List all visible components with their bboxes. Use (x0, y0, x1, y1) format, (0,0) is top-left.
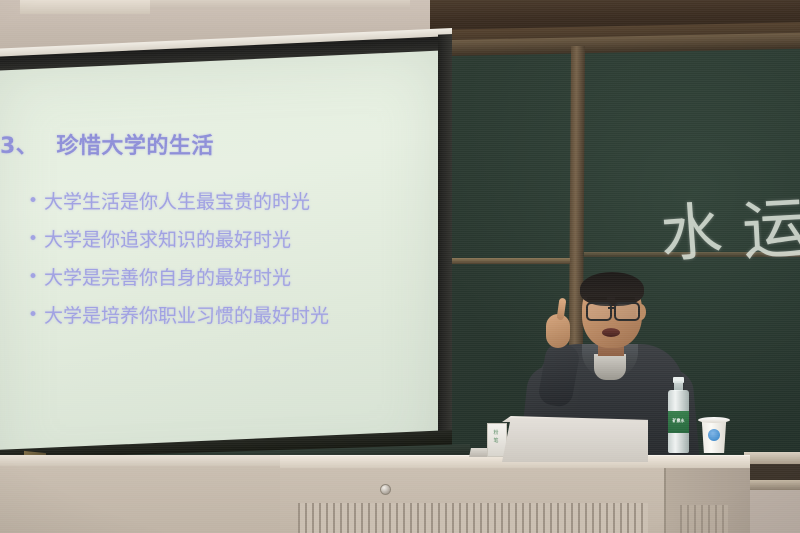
slide-title: 3、珍惜大学的生活 (0, 128, 440, 160)
paper-cup-logo (708, 429, 720, 441)
blackboard-shelf-lower (744, 480, 800, 490)
slide-title-text: 珍惜大学的生活 (56, 134, 214, 159)
lecturer-mouth (602, 328, 620, 337)
podium-panel-seam (664, 468, 666, 533)
lecturer-eyebrow-right (615, 297, 635, 300)
bottle-label-text: 矿泉水 (668, 411, 689, 424)
list-item: • 大学是培养你职业习惯的最好时光 (28, 306, 448, 328)
bullet-icon: • (28, 192, 44, 212)
bullet-text: 大学是你追求知识的最好时光 (44, 230, 291, 252)
bullet-text: 大学是完善你自身的最好时光 (44, 268, 291, 290)
desk-left-section (0, 455, 300, 533)
podium-vents (298, 503, 648, 533)
podium-vents-right (680, 505, 728, 533)
list-item: • 大学是你追求知识的最好时光 (28, 230, 448, 252)
glasses-lens-right (614, 302, 640, 321)
ceiling-panel-left (20, 0, 150, 14)
list-item: • 大学是完善你自身的最好时光 (28, 268, 448, 290)
list-item: • 大学生活是你人生最宝贵的时光 (28, 192, 448, 214)
bullet-icon: • (28, 230, 44, 250)
lecture-hall-photo: 水 运 3、珍惜大学的生活 • 大学生活是你人生最宝贵的时光 • 大学是你追求知… (0, 0, 800, 533)
blackboard-rail-left (452, 258, 570, 264)
lecturer-eyebrow-left (587, 297, 607, 300)
paper-cup-rim (698, 417, 730, 423)
glasses-bridge (608, 307, 616, 309)
lock-icon (380, 484, 391, 495)
glasses-icon (586, 302, 612, 321)
bullet-icon: • (28, 306, 44, 326)
podium (280, 455, 750, 533)
bullet-text: 大学是培养你职业习惯的最好时光 (44, 306, 329, 328)
bullet-text: 大学生活是你人生最宝贵的时光 (44, 192, 310, 214)
monitor (502, 418, 648, 462)
slide-title-number: 3、 (0, 134, 38, 159)
blackboard-rail-right (584, 252, 800, 257)
water-bottle: 矿泉水 (668, 381, 689, 453)
blackboard-shelf-upper (744, 452, 800, 464)
bullet-icon: • (28, 268, 44, 288)
lecturer-hair (580, 272, 644, 306)
lecturer-shirt (594, 354, 626, 380)
desk-left-front (0, 466, 300, 533)
ceiling-panel-right (150, 0, 410, 9)
tissue-box-label: 粉笔 (489, 430, 503, 445)
blackboard-right-gap (744, 464, 800, 480)
slide-bullet-list: • 大学生活是你人生最宝贵的时光 • 大学是你追求知识的最好时光 • 大学是完善… (28, 192, 448, 343)
bottle-label: 矿泉水 (668, 411, 689, 433)
